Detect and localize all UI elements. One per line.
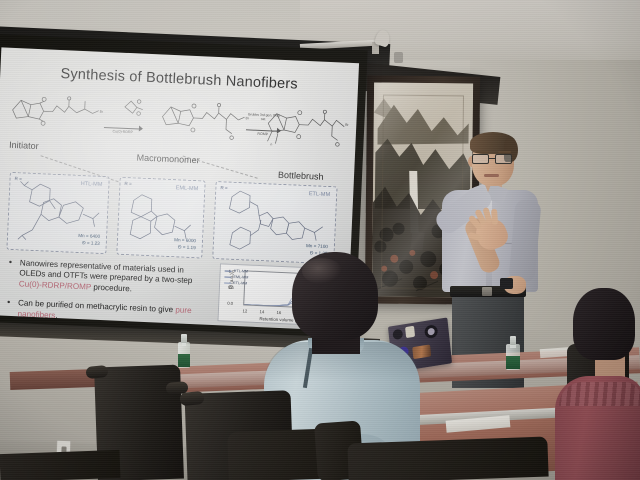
bottle-cap [510,336,517,345]
legend-swatch [224,282,231,283]
svg-text:n: n [270,142,272,146]
attendee-blouse-ruffle [559,382,640,406]
arrow2-below-label: ROMP [246,131,280,137]
label-bottlebrush: Bottlebrush [278,170,324,182]
monomer-mn: Mn = 6000 [174,237,196,243]
monomer-mn: Mn = 6400 [78,233,100,239]
attendee-hair [573,288,635,360]
chart-x-tick: 12 [242,308,247,313]
slide-bullet-list: Nanowires representative of materials us… [5,258,208,331]
svg-text:Br: Br [100,110,104,114]
leader-line-2 [183,156,258,179]
monomer-pdi: Ð = 1.19 [178,244,196,250]
legend-label: HTL-MM [234,269,249,274]
photo-scene: Synthesis of Bottlebrush Nanofibers [0,0,640,480]
legend-entry: ETL-MM [224,279,248,286]
seated-attendee-right [545,288,640,480]
arrow1-below-label: Cu(0)-RDRP [104,129,142,135]
water-bottle[interactable] [506,336,520,376]
presenter-eyebrow-right [498,151,511,153]
arrow2-above-label: Grubbs 3rd gen. [Ru] cat. [246,113,280,122]
bullet-text-post: . [55,311,58,320]
monomer-box-htl: R = HTL-MM [6,172,109,254]
svg-text:Br: Br [345,123,349,127]
presenter-mouth [484,174,499,177]
bottle-cap [181,334,187,343]
bottle-label [178,354,190,367]
legend-label: EML-MM [233,275,248,280]
legend-label: ETL-MM [233,281,247,286]
presenter-eyebrow-left [476,151,489,153]
bullet-highlight: Cu(0)-RDRP/ROMP [19,279,92,291]
label-initiator: Initiator [9,140,39,151]
reaction-arrow-1: Cu(0)-RDRP [104,118,143,138]
chair[interactable] [347,437,548,480]
reaction-arrow-2: Grubbs 3rd gen. [Ru] cat. ROMP [246,120,281,139]
eyeglass-lens-right [495,154,512,164]
finger [491,209,498,225]
chair[interactable] [0,450,120,480]
rail-end-cap [394,52,403,63]
water-bottle[interactable] [178,334,190,370]
belt-buckle [482,287,492,296]
legend-swatch [225,270,232,271]
monomer-pdi: Ð = 1.23 [82,240,100,246]
attendee-hair-highlight [302,258,342,284]
chart-legend: HTL-MM EML-MM ETL-MM [224,268,249,287]
presentation-clicker[interactable] [500,278,513,289]
chart-y-tick: 0.0 [227,301,233,306]
slide-bullet: Nanowires representative of materials us… [7,258,208,298]
eyeglass-lens-left [472,154,489,164]
scheme-structures: Br Br Br n [5,88,349,155]
eyeglasses-icon [472,154,514,165]
monomer-box-eml: R = EML-MM Mn = 6000 Ð = 1.19 [116,177,205,259]
legend-swatch [224,276,231,277]
bottle-label [506,356,520,369]
reaction-scheme: Br Br Br n Cu(0)-RDRP Grubbs 3rd gen. [5,88,349,155]
bullet-text-post: procedure. [91,282,132,293]
monomer-mn: Mn = 7100 [306,243,328,249]
eyeglass-bridge [489,158,495,159]
thumb [467,232,481,241]
